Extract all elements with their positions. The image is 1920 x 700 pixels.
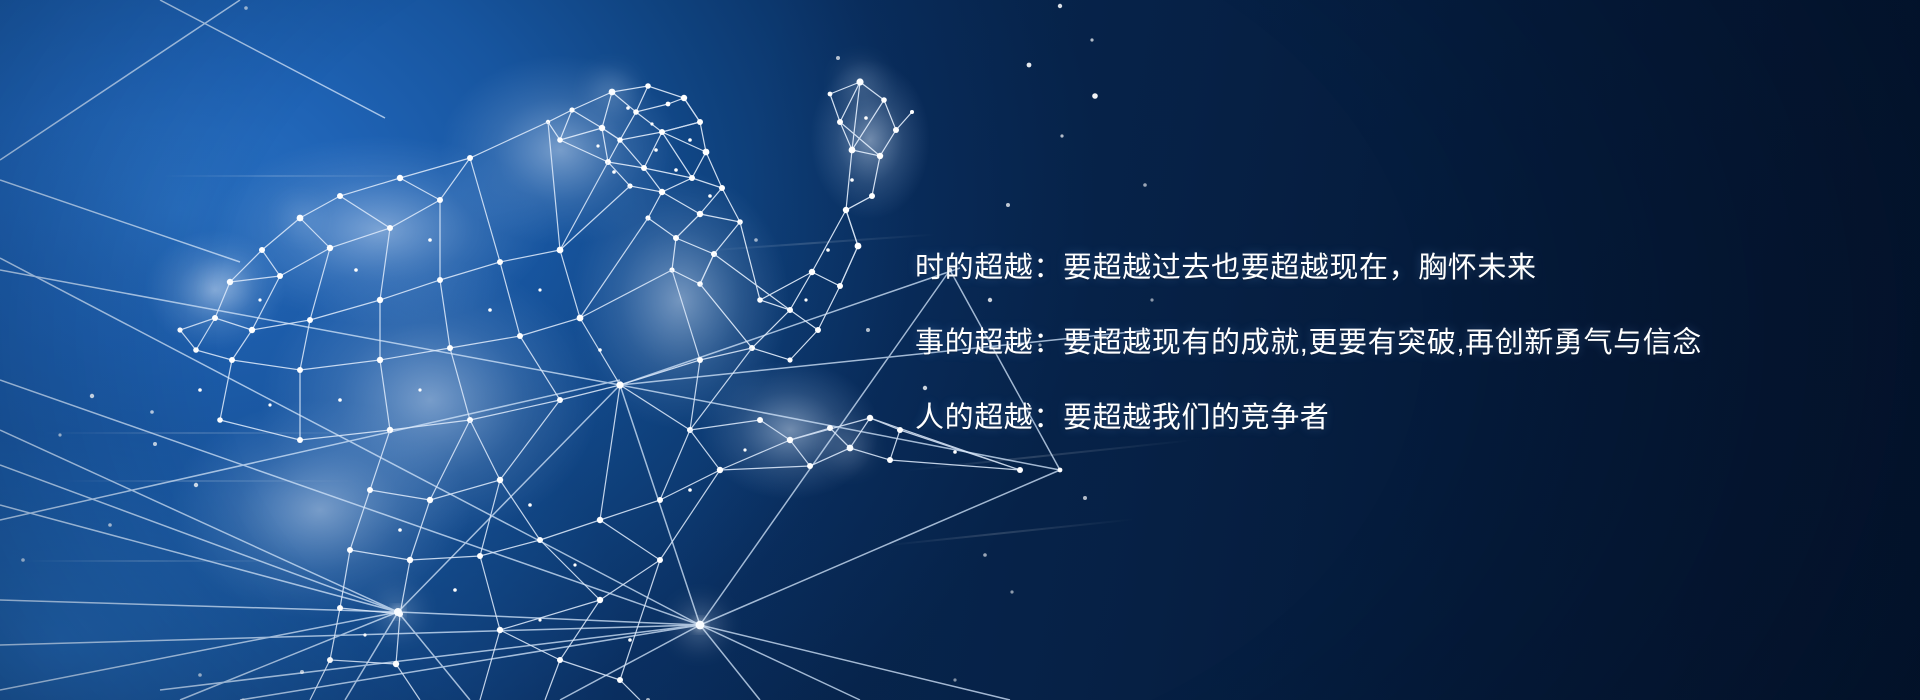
slogan-line-matter: 事的超越：要超越现有的成就,更要有突破,再创新勇气与信念 — [915, 306, 1795, 381]
hero-banner: 时的超越：要超越过去也要超越现在，胸怀未来 事的超越：要超越现有的成就,更要有突… — [0, 0, 1920, 700]
slogan-line-time: 时的超越：要超越过去也要超越现在，胸怀未来 — [915, 231, 1795, 306]
slogan-line-people: 人的超越：要超越我们的竞争者 — [915, 381, 1795, 456]
slogan-text-block: 时的超越：要超越过去也要超越现在，胸怀未来 事的超越：要超越现有的成就,更要有突… — [915, 231, 1795, 456]
